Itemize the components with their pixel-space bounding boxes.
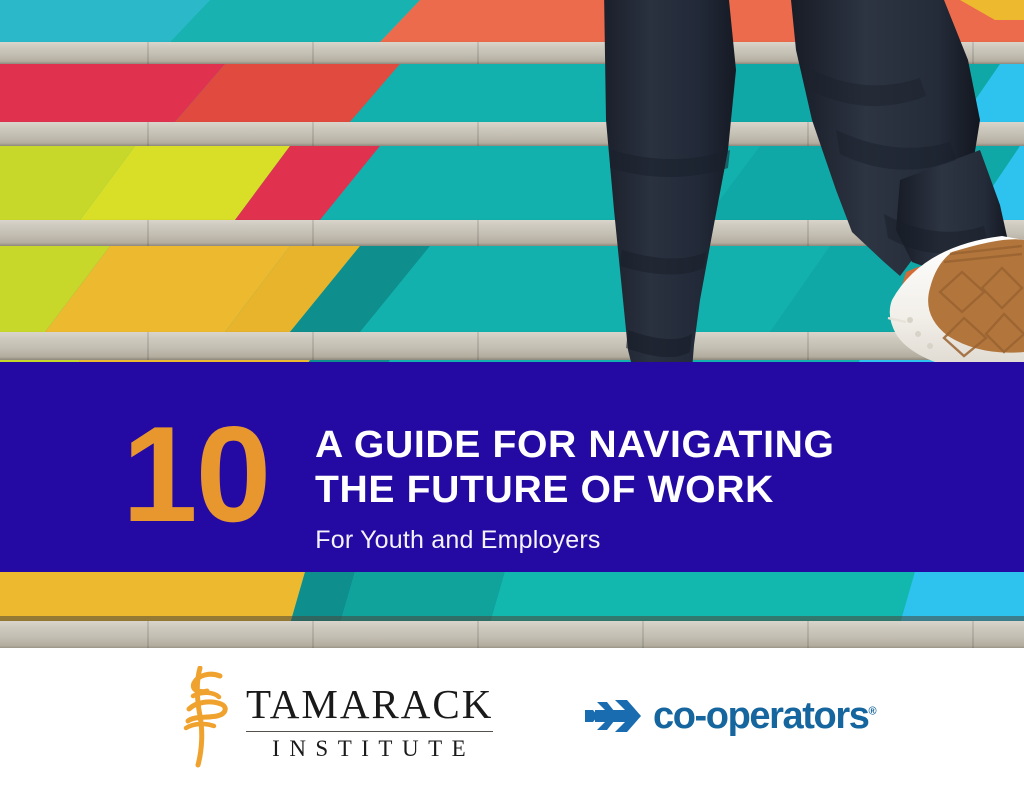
guide-number: 10 [122, 411, 269, 539]
tamarack-institute-logo: TAMARACK INSTITUTE [176, 666, 493, 770]
subtitle: For Youth and Employers [315, 525, 819, 555]
front-leg [790, 0, 1010, 276]
tamarack-wordmark: TAMARACK INSTITUTE [246, 676, 493, 761]
cooperators-word-text: co-operators [653, 695, 868, 737]
tamarack-institute-word: INSTITUTE [246, 737, 493, 760]
tamarack-divider [246, 731, 493, 733]
cooperators-wordmark: co-operators® [653, 697, 877, 735]
title-block: A GUIDE FOR NAVIGATING THE FUTURE OF WOR… [315, 385, 819, 554]
tamarack-name: TAMARACK [246, 684, 493, 729]
rear-leg [604, 0, 736, 400]
logo-footer: TAMARACK INSTITUTE co-operators® [0, 648, 1024, 791]
registered-trademark-icon: ® [868, 705, 876, 717]
report-cover: 10 A GUIDE FOR NAVIGATING THE FUTURE OF … [0, 0, 1024, 791]
coop-chevrons-icon [585, 696, 641, 736]
cooperators-logo: co-operators® [585, 696, 877, 736]
title-line-1: A GUIDE FOR NAVIGATING [315, 423, 835, 467]
title-banner: 10 A GUIDE FOR NAVIGATING THE FUTURE OF … [0, 362, 1024, 572]
title-line-2: THE FUTURE OF WORK [315, 468, 835, 512]
tamarack-flame-icon [176, 666, 238, 770]
